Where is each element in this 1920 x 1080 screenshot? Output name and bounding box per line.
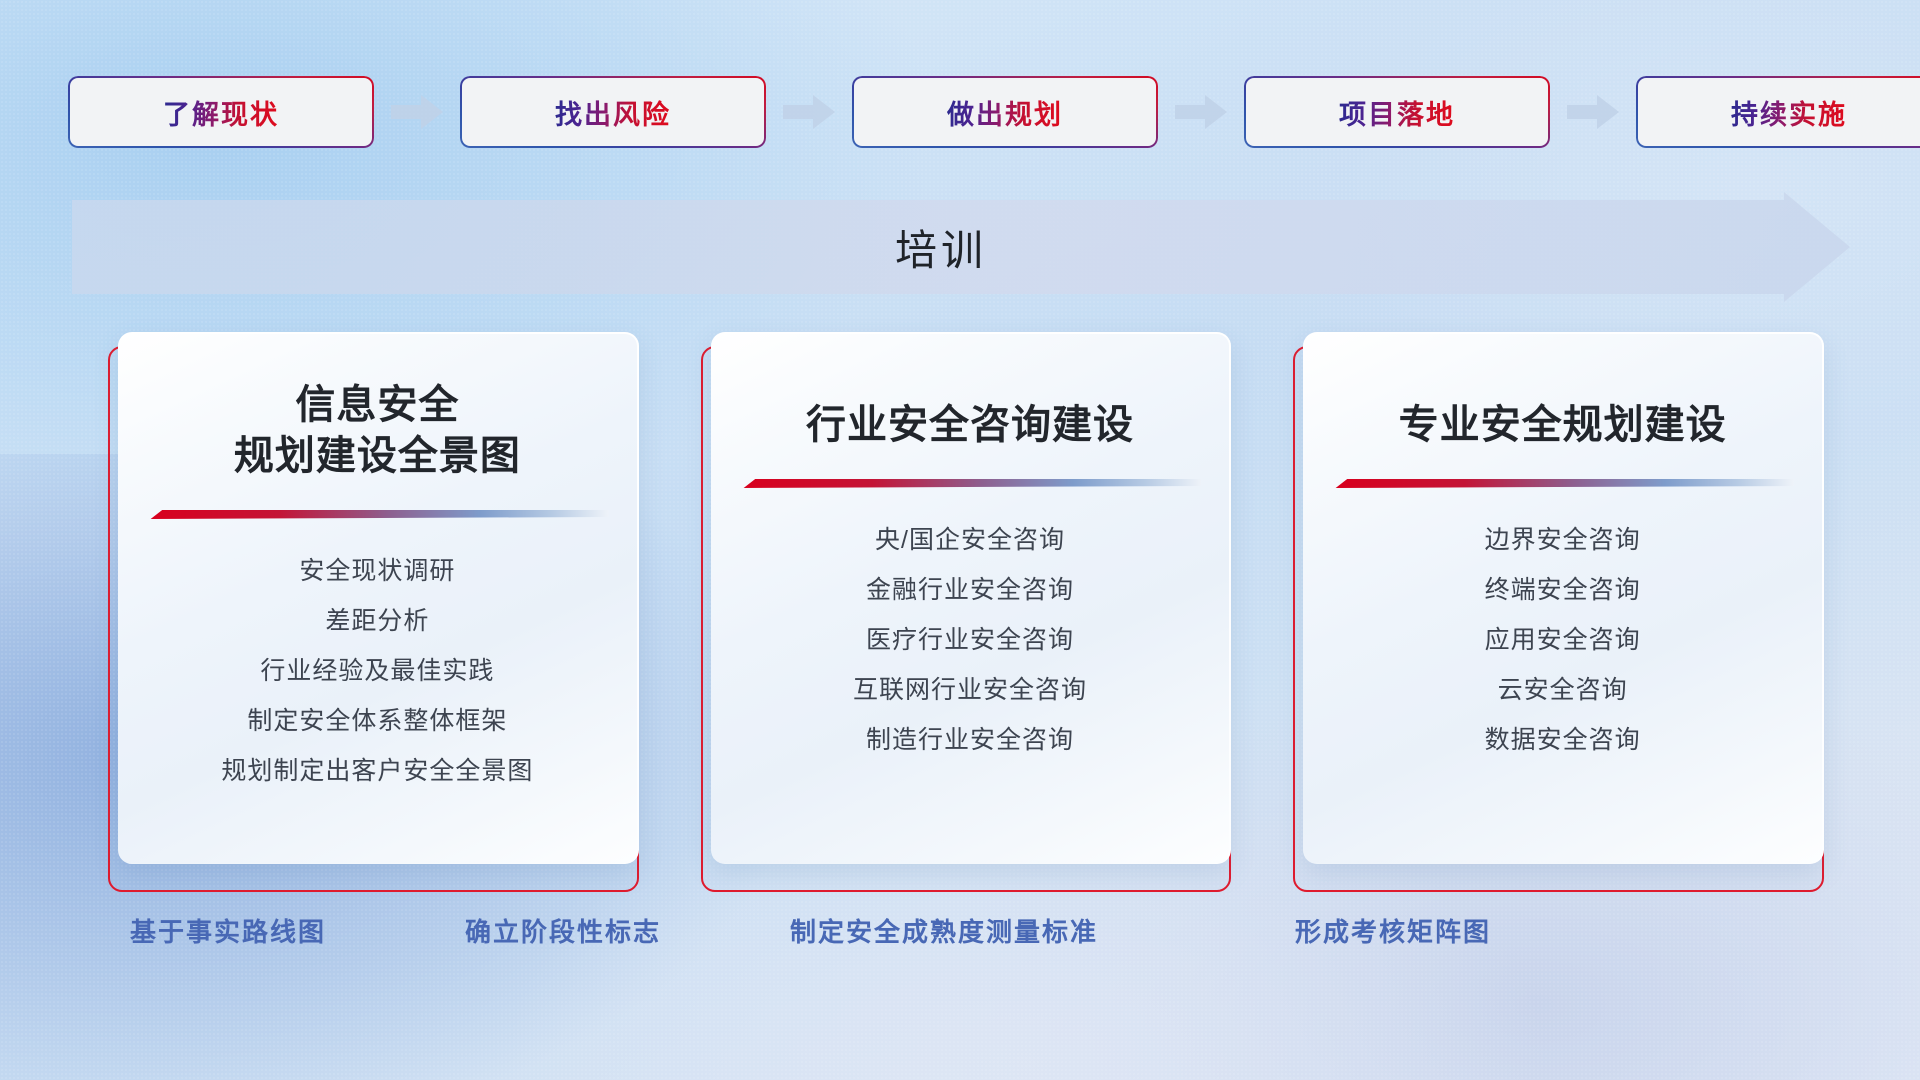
card-row: 信息安全 规划建设全景图 bbox=[108, 332, 1824, 878]
card-wrapper-1: 信息安全 规划建设全景图 bbox=[108, 332, 639, 878]
process-step-5[interactable]: 持续实施 bbox=[1638, 78, 1920, 146]
process-step-2[interactable]: 找出风险 bbox=[462, 78, 764, 146]
slide-stage: 了解现状 找出风险 做出规划 项目落地 持续实施 培训 bbox=[0, 0, 1920, 1080]
bottom-label-1: 基于事实路线图 bbox=[130, 912, 326, 949]
process-step-4[interactable]: 项目落地 bbox=[1246, 78, 1548, 146]
process-step-row: 了解现状 找出风险 做出规划 项目落地 持续实施 bbox=[70, 78, 1850, 146]
card-3-divider bbox=[1331, 477, 1794, 490]
card-3-list: 边界安全咨询 终端安全咨询 应用安全咨询 云安全咨询 数据安全咨询 bbox=[1303, 516, 1822, 766]
list-item: 边界安全咨询 bbox=[1485, 516, 1641, 566]
card-1-list: 安全现状调研 差距分析 行业经验及最佳实践 制定安全体系整体框架 规划制定出客户… bbox=[118, 547, 637, 797]
bottom-label-3: 制定安全成熟度测量标准 bbox=[790, 912, 1098, 949]
process-step-5-label: 持续实施 bbox=[1731, 93, 1847, 132]
bottom-label-row: 基于事实路线图 确立阶段性标志 制定安全成熟度测量标准 形成考核矩阵图 bbox=[0, 912, 1920, 960]
card-3[interactable]: 专业安全规划建设 bbox=[1303, 332, 1824, 864]
bottom-label-4: 形成考核矩阵图 bbox=[1295, 912, 1491, 949]
card-2-divider bbox=[739, 477, 1202, 490]
list-item: 应用安全咨询 bbox=[1485, 616, 1641, 666]
list-item: 数据安全咨询 bbox=[1485, 716, 1641, 766]
card-1[interactable]: 信息安全 规划建设全景图 bbox=[118, 332, 639, 864]
card-3-title: 专业安全规划建设 bbox=[1377, 400, 1749, 451]
list-item: 医疗行业安全咨询 bbox=[866, 616, 1074, 666]
banner-title: 培训 bbox=[72, 192, 1850, 302]
list-item: 金融行业安全咨询 bbox=[866, 566, 1074, 616]
list-item: 互联网行业安全咨询 bbox=[853, 666, 1087, 716]
list-item: 央/国企安全咨询 bbox=[875, 516, 1065, 566]
card-wrapper-3: 专业安全规划建设 bbox=[1293, 332, 1824, 878]
process-step-1[interactable]: 了解现状 bbox=[70, 78, 372, 146]
card-2-list: 央/国企安全咨询 金融行业安全咨询 医疗行业安全咨询 互联网行业安全咨询 制造行… bbox=[711, 516, 1230, 766]
list-item: 制定安全体系整体框架 bbox=[247, 697, 507, 747]
card-wrapper-2: 行业安全咨询建设 bbox=[701, 332, 1232, 878]
card-2[interactable]: 行业安全咨询建设 bbox=[711, 332, 1232, 864]
card-1-title-line-2: 规划建设全景图 bbox=[234, 431, 521, 482]
card-2-title: 行业安全咨询建设 bbox=[784, 400, 1156, 451]
process-step-3-label: 做出规划 bbox=[947, 93, 1063, 132]
card-1-title: 信息安全 规划建设全景图 bbox=[212, 380, 543, 482]
arrow-right-icon-3 bbox=[1156, 78, 1246, 146]
process-step-1-label: 了解现状 bbox=[163, 93, 279, 132]
arrow-right-icon-2 bbox=[764, 78, 854, 146]
list-item: 安全现状调研 bbox=[299, 547, 455, 597]
arrow-right-icon-1 bbox=[372, 78, 462, 146]
list-item: 终端安全咨询 bbox=[1485, 566, 1641, 616]
list-item: 制造行业安全咨询 bbox=[866, 716, 1074, 766]
card-1-divider bbox=[146, 508, 609, 521]
card-3-title-line-1: 专业安全规划建设 bbox=[1399, 400, 1727, 451]
card-2-title-line-1: 行业安全咨询建设 bbox=[806, 400, 1134, 451]
list-item: 差距分析 bbox=[325, 597, 429, 647]
bottom-label-2: 确立阶段性标志 bbox=[465, 912, 661, 949]
arrow-right-icon-4 bbox=[1548, 78, 1638, 146]
card-1-title-line-1: 信息安全 bbox=[234, 380, 521, 431]
process-step-2-label: 找出风险 bbox=[555, 93, 671, 132]
training-banner: 培训 bbox=[72, 192, 1850, 302]
list-item: 行业经验及最佳实践 bbox=[260, 647, 494, 697]
list-item: 规划制定出客户安全全景图 bbox=[221, 747, 533, 797]
process-step-4-label: 项目落地 bbox=[1339, 93, 1455, 132]
process-step-3[interactable]: 做出规划 bbox=[854, 78, 1156, 146]
list-item: 云安全咨询 bbox=[1498, 666, 1628, 716]
